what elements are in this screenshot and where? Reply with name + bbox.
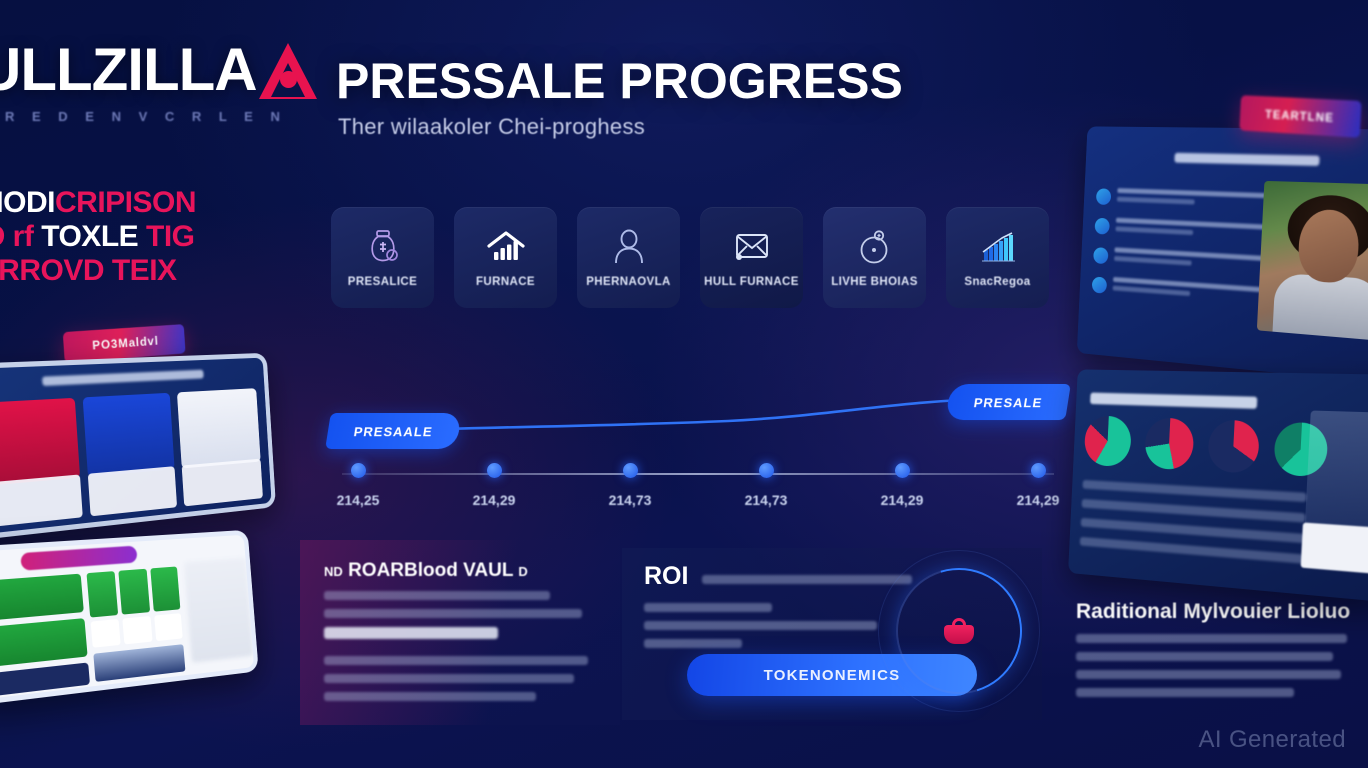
timeline-node-label: 214,25 xyxy=(337,492,380,508)
donut-chart-row xyxy=(1084,415,1329,477)
timeline-dot xyxy=(895,463,910,478)
badge-top-right: TEARTLNE xyxy=(1239,95,1361,138)
mockup-sub-tile xyxy=(154,613,183,641)
presale-pill-left-label: PRESAALE xyxy=(353,424,434,439)
roi-title: ROI xyxy=(644,562,688,591)
roi-body-line xyxy=(644,639,742,648)
badge-top-left-label: PO3Maldvl xyxy=(92,334,159,353)
timeline-dot xyxy=(351,463,366,478)
mockup-area-chart xyxy=(93,644,185,682)
mockup-green-card xyxy=(0,618,88,668)
dashboard-side-panel xyxy=(1305,410,1368,537)
raditional-heading: Raditional Mylvouier Lioluo xyxy=(1076,600,1355,624)
raditional-body-line xyxy=(1076,670,1341,679)
coin-jar-icon xyxy=(366,227,400,267)
table-row xyxy=(1083,480,1307,502)
vault-heading-main: ROARBlood xyxy=(348,560,458,581)
feature-card-presalice[interactable]: PRESALICE xyxy=(331,207,434,308)
headline-1-white: HODI xyxy=(0,186,55,219)
mockup-metric xyxy=(119,569,150,615)
page-subtitle: Ther wilaakoler Chei-proghess xyxy=(338,114,645,140)
feature-card-phernaovla[interactable]: PHERNAOVLA xyxy=(577,207,680,308)
timeline-dot xyxy=(487,463,502,478)
feature-card-row: PRESALICE FURNACE PHERNAO xyxy=(331,207,1049,308)
mockup-metric xyxy=(150,566,180,611)
timeline-node[interactable]: 214,29 xyxy=(1008,463,1068,508)
photo-body xyxy=(1273,273,1368,341)
vault-body-line xyxy=(324,609,582,618)
brand-name-text: ULLZILLA xyxy=(0,40,257,100)
triangle-a-logo-icon xyxy=(259,41,308,99)
timeline-node[interactable]: 214,73 xyxy=(600,463,660,508)
logo-dot xyxy=(280,71,297,88)
dashboard-mockup-bottom-right xyxy=(1068,369,1368,602)
activity-row xyxy=(1096,187,1272,211)
brand-tagline: C R E D E N V C R L E N xyxy=(0,109,308,124)
mockup-thumb xyxy=(0,474,83,527)
activity-row xyxy=(1092,276,1267,306)
headline-line-3: 1RROVD TEIX xyxy=(0,254,292,288)
avatar xyxy=(1092,276,1107,293)
roi-body-line xyxy=(644,603,772,612)
vault-body-line xyxy=(324,674,574,683)
vault-heading-mid: VAUL xyxy=(463,560,513,581)
roi-body-line xyxy=(644,621,877,630)
mockup-metric-row xyxy=(86,566,180,617)
device-mockup-top-left xyxy=(0,353,276,541)
mockup-right-panel xyxy=(184,558,253,663)
mockup-action-button xyxy=(0,662,90,697)
mockup-sub-tile xyxy=(123,616,153,644)
vault-body-line-emphasis xyxy=(324,627,498,639)
avatar xyxy=(1094,217,1109,234)
raditional-panel: Raditional Mylvouier Lioluo xyxy=(1068,596,1363,710)
presale-pill-left[interactable]: PRESAALE xyxy=(325,413,461,449)
donut-chart xyxy=(1084,415,1132,467)
mockup-card xyxy=(0,398,80,486)
person-photo xyxy=(1257,181,1368,341)
timeline-node-label: 214,29 xyxy=(881,492,924,508)
page-title: PRESSALE PROGRESS xyxy=(336,52,903,110)
mockup-metric xyxy=(86,571,118,617)
timeline-node-label: 214,29 xyxy=(1017,492,1060,508)
timeline-nodes: 214,25 214,29 214,73 214,73 214,29 214,2… xyxy=(328,463,1068,508)
presale-pill-right[interactable]: PRESALE xyxy=(945,384,1071,420)
activity-text xyxy=(1117,188,1272,211)
timeline-node[interactable]: 214,25 xyxy=(328,463,388,508)
roi-gauge xyxy=(884,556,1034,706)
mockup-green-card xyxy=(0,574,84,622)
brand-name: ULLZILLA xyxy=(0,40,308,100)
raditional-body-line xyxy=(1076,652,1333,661)
headline-2-pink-a: O rf xyxy=(0,220,33,253)
raditional-body-line xyxy=(1076,634,1347,643)
mockup-thumb xyxy=(181,459,263,507)
tokenonemics-button-label: TOKENONEMICS xyxy=(764,667,901,684)
table-row xyxy=(1080,537,1304,564)
mockup-mid-column xyxy=(86,566,185,681)
dashboard-title-bar xyxy=(1174,153,1319,166)
vault-body-line xyxy=(324,656,588,665)
dashboard-heading-bar xyxy=(1090,393,1257,409)
timeline-node[interactable]: 214,29 xyxy=(872,463,932,508)
mockup-title-bar xyxy=(42,370,204,386)
presale-pill-right-label: PRESALE xyxy=(972,395,1043,410)
ai-generated-watermark: AI Generated xyxy=(1198,726,1346,754)
dashboard-table-rows xyxy=(1079,480,1306,575)
badge-top-right-label: TEARTLNE xyxy=(1265,107,1334,125)
headline-2-pink-b: TIG xyxy=(146,220,195,253)
dashboard-white-card xyxy=(1301,522,1368,574)
growth-bar-chart-icon xyxy=(978,227,1018,267)
avatar xyxy=(1096,188,1112,205)
vault-body-line xyxy=(324,591,550,600)
headline-1-pink: CRIPISON xyxy=(55,186,196,219)
timeline-dot xyxy=(759,463,774,478)
vault-body-line xyxy=(324,692,536,701)
headline-line-2: O rf TOXLE TIG xyxy=(0,220,292,254)
activity-text xyxy=(1112,277,1266,306)
feature-card-hull-furnace[interactable]: HULL FURNACE xyxy=(700,207,803,308)
feature-card-livhe-bhoias[interactable]: LIVHE BHOIAS xyxy=(823,207,926,308)
headline-2-white: TOXLE xyxy=(41,220,138,253)
roi-heading-line xyxy=(702,575,912,584)
donut-chart xyxy=(1207,419,1260,473)
timeline-node-label: 214,73 xyxy=(609,492,652,508)
feature-card-label: LIVHE BHOIAS xyxy=(831,276,918,288)
mockup-sub-tile xyxy=(91,619,121,648)
timeline-node[interactable]: 214,29 xyxy=(464,463,524,508)
timeline-node[interactable]: 214,73 xyxy=(736,463,796,508)
timeline-dot xyxy=(623,463,638,478)
presale-progress-infographic: ULLZILLA C R E D E N V C R L E N HODICRI… xyxy=(0,0,1368,768)
table-row xyxy=(1082,499,1306,523)
feature-card-label: HULL FURNACE xyxy=(704,276,799,288)
mockup-thumb xyxy=(88,466,177,516)
basket-body xyxy=(944,625,974,644)
timeline: PRESAALE PRESALE 214,25 214,29 214,73 21… xyxy=(328,385,1068,510)
dashboard-activity-list xyxy=(1091,187,1272,318)
feature-card-snacregoa[interactable]: SnacRegoa xyxy=(946,207,1049,308)
feature-card-label: PRESALICE xyxy=(348,276,417,288)
user-person-icon xyxy=(612,227,646,267)
activity-text xyxy=(1114,247,1269,274)
activity-text xyxy=(1115,218,1270,243)
donut-chart xyxy=(1144,417,1195,470)
device-mockup-bottom-left xyxy=(0,530,259,706)
mockup-card xyxy=(83,393,174,477)
activity-row xyxy=(1094,217,1270,243)
basket-icon xyxy=(944,618,974,644)
headline-line-1: HODICRIPISON xyxy=(0,186,292,220)
envelope-mail-icon xyxy=(733,227,771,267)
left-headline: HODICRIPISON O rf TOXLE TIG 1RROVD TEIX xyxy=(0,186,292,288)
feature-card-label: SnacRegoa xyxy=(964,276,1030,288)
feature-card-furnace[interactable]: FURNACE xyxy=(454,207,557,308)
dashboard-mockup-top-right xyxy=(1077,126,1368,384)
activity-row xyxy=(1093,246,1268,274)
roi-panel: ROI TOKENONEMICS xyxy=(622,548,1042,720)
mockup-left-column xyxy=(0,574,90,698)
avatar xyxy=(1093,247,1108,264)
vault-heading-pre: ND xyxy=(324,564,343,579)
vault-heading: ND ROARBlood VAUL D xyxy=(324,560,596,582)
raditional-body-line xyxy=(1076,688,1294,697)
vault-panel: ND ROARBlood VAUL D xyxy=(300,540,620,725)
vault-heading-post: D xyxy=(518,564,527,579)
clock-circle-icon xyxy=(857,227,893,267)
brand-logo: ULLZILLA C R E D E N V C R L E N xyxy=(0,40,308,124)
mockup-card xyxy=(177,388,261,468)
timeline-node-label: 214,73 xyxy=(745,492,788,508)
bar-chart-roof-icon xyxy=(486,227,526,267)
feature-card-label: PHERNAOVLA xyxy=(586,276,671,288)
feature-card-label: FURNACE xyxy=(476,276,535,288)
timeline-dot xyxy=(1031,463,1046,478)
playback-ribbon xyxy=(20,546,137,571)
timeline-node-label: 214,29 xyxy=(473,492,516,508)
